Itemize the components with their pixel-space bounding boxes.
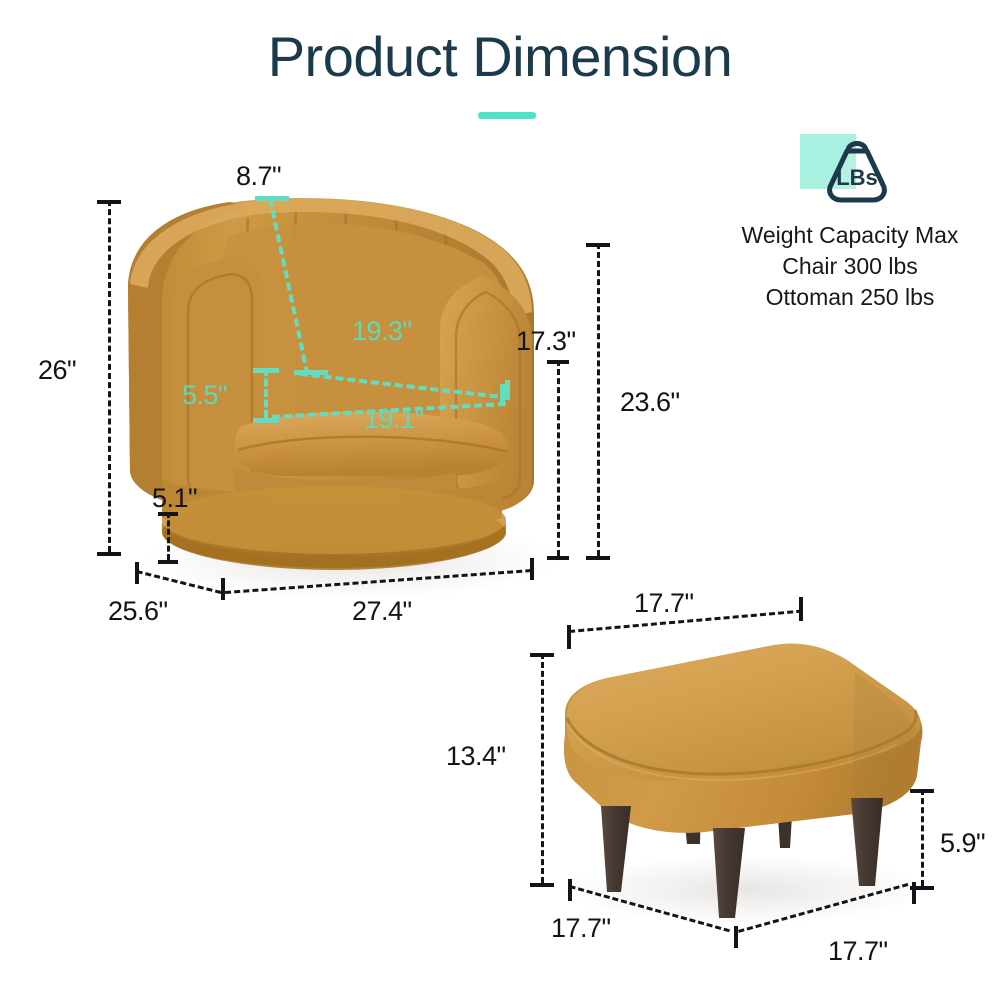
- dim-label-back-height: 23.6": [620, 387, 680, 418]
- dim-173-bottom-cap: [547, 556, 569, 560]
- dim-label-ottoman-bottom-width: 17.7": [828, 936, 888, 967]
- dim-label-seat-width: 19.1": [364, 404, 424, 435]
- dim-236-bottom-cap: [586, 556, 610, 560]
- ottoman-illustration: [555, 630, 935, 920]
- dim-label-arm-height: 17.3": [516, 326, 576, 357]
- product-dimension-diagram: Product Dimension LBs Weight Capacity Ma…: [0, 0, 1000, 1000]
- dim-173-line: [557, 360, 560, 556]
- ottoman-leg-front-left: [601, 806, 631, 892]
- dim-label-overall-height: 26": [38, 355, 76, 386]
- dim-236-line: [597, 243, 600, 556]
- dim-label-ottoman-bottom-depth: 17.7": [551, 913, 611, 944]
- dim-26-bottom-cap: [97, 552, 121, 556]
- weight-line-1: Weight Capacity Max: [700, 220, 1000, 251]
- weight-capacity-badge: LBs Weight Capacity Max Chair 300 lbs Ot…: [700, 132, 1000, 313]
- dim-label-base-height: 5.1": [152, 483, 197, 514]
- dim-55-line: [264, 368, 268, 418]
- dim-59-line: [921, 789, 924, 886]
- dim-label-back-width: 8.7": [236, 161, 281, 192]
- dim-134-line: [541, 653, 544, 883]
- ottoman-leg-side-right: [851, 798, 883, 886]
- dim-label-depth: 25.6": [108, 596, 168, 627]
- weight-line-3: Ottoman 250 lbs: [700, 282, 1000, 313]
- dim-ott-top-left-cap: [567, 625, 571, 649]
- dim-ott-br-cap: [912, 882, 916, 904]
- dim-26-line: [108, 200, 111, 552]
- dim-ott-top-right-cap: [799, 597, 803, 621]
- title-accent-rule: [478, 112, 536, 119]
- page-title: Product Dimension: [0, 24, 1000, 89]
- lbs-weight-icon: LBs: [818, 132, 896, 204]
- dim-191-right-cap: [500, 384, 505, 404]
- dim-label-cushion-thickness: 5.5": [182, 380, 227, 411]
- dim-label-ottoman-height: 13.4": [446, 741, 506, 772]
- dim-label-seat-depth: 19.3": [352, 316, 412, 347]
- dim-274-right-cap: [530, 558, 534, 580]
- ottoman-leg-front-right: [713, 828, 745, 918]
- dim-51-bottom-cap: [158, 560, 178, 564]
- weight-badge-icon-group: LBs: [700, 132, 1000, 210]
- dim-55-bottom-cap: [253, 418, 279, 423]
- dim-193-end-cap: [505, 380, 510, 400]
- dim-51-line: [167, 512, 170, 560]
- dim-134-bottom-cap: [530, 883, 554, 887]
- dim-label-width: 27.4": [352, 596, 412, 627]
- dim-256-right-cap: [221, 578, 225, 600]
- svg-text:LBs: LBs: [836, 165, 878, 190]
- dim-label-ottoman-top-width: 17.7": [634, 588, 694, 619]
- dim-ott-bl-cap: [568, 879, 572, 901]
- weight-capacity-text: Weight Capacity Max Chair 300 lbs Ottoma…: [700, 220, 1000, 313]
- weight-line-2: Chair 300 lbs: [700, 251, 1000, 282]
- dim-label-leg-height: 5.9": [940, 828, 985, 859]
